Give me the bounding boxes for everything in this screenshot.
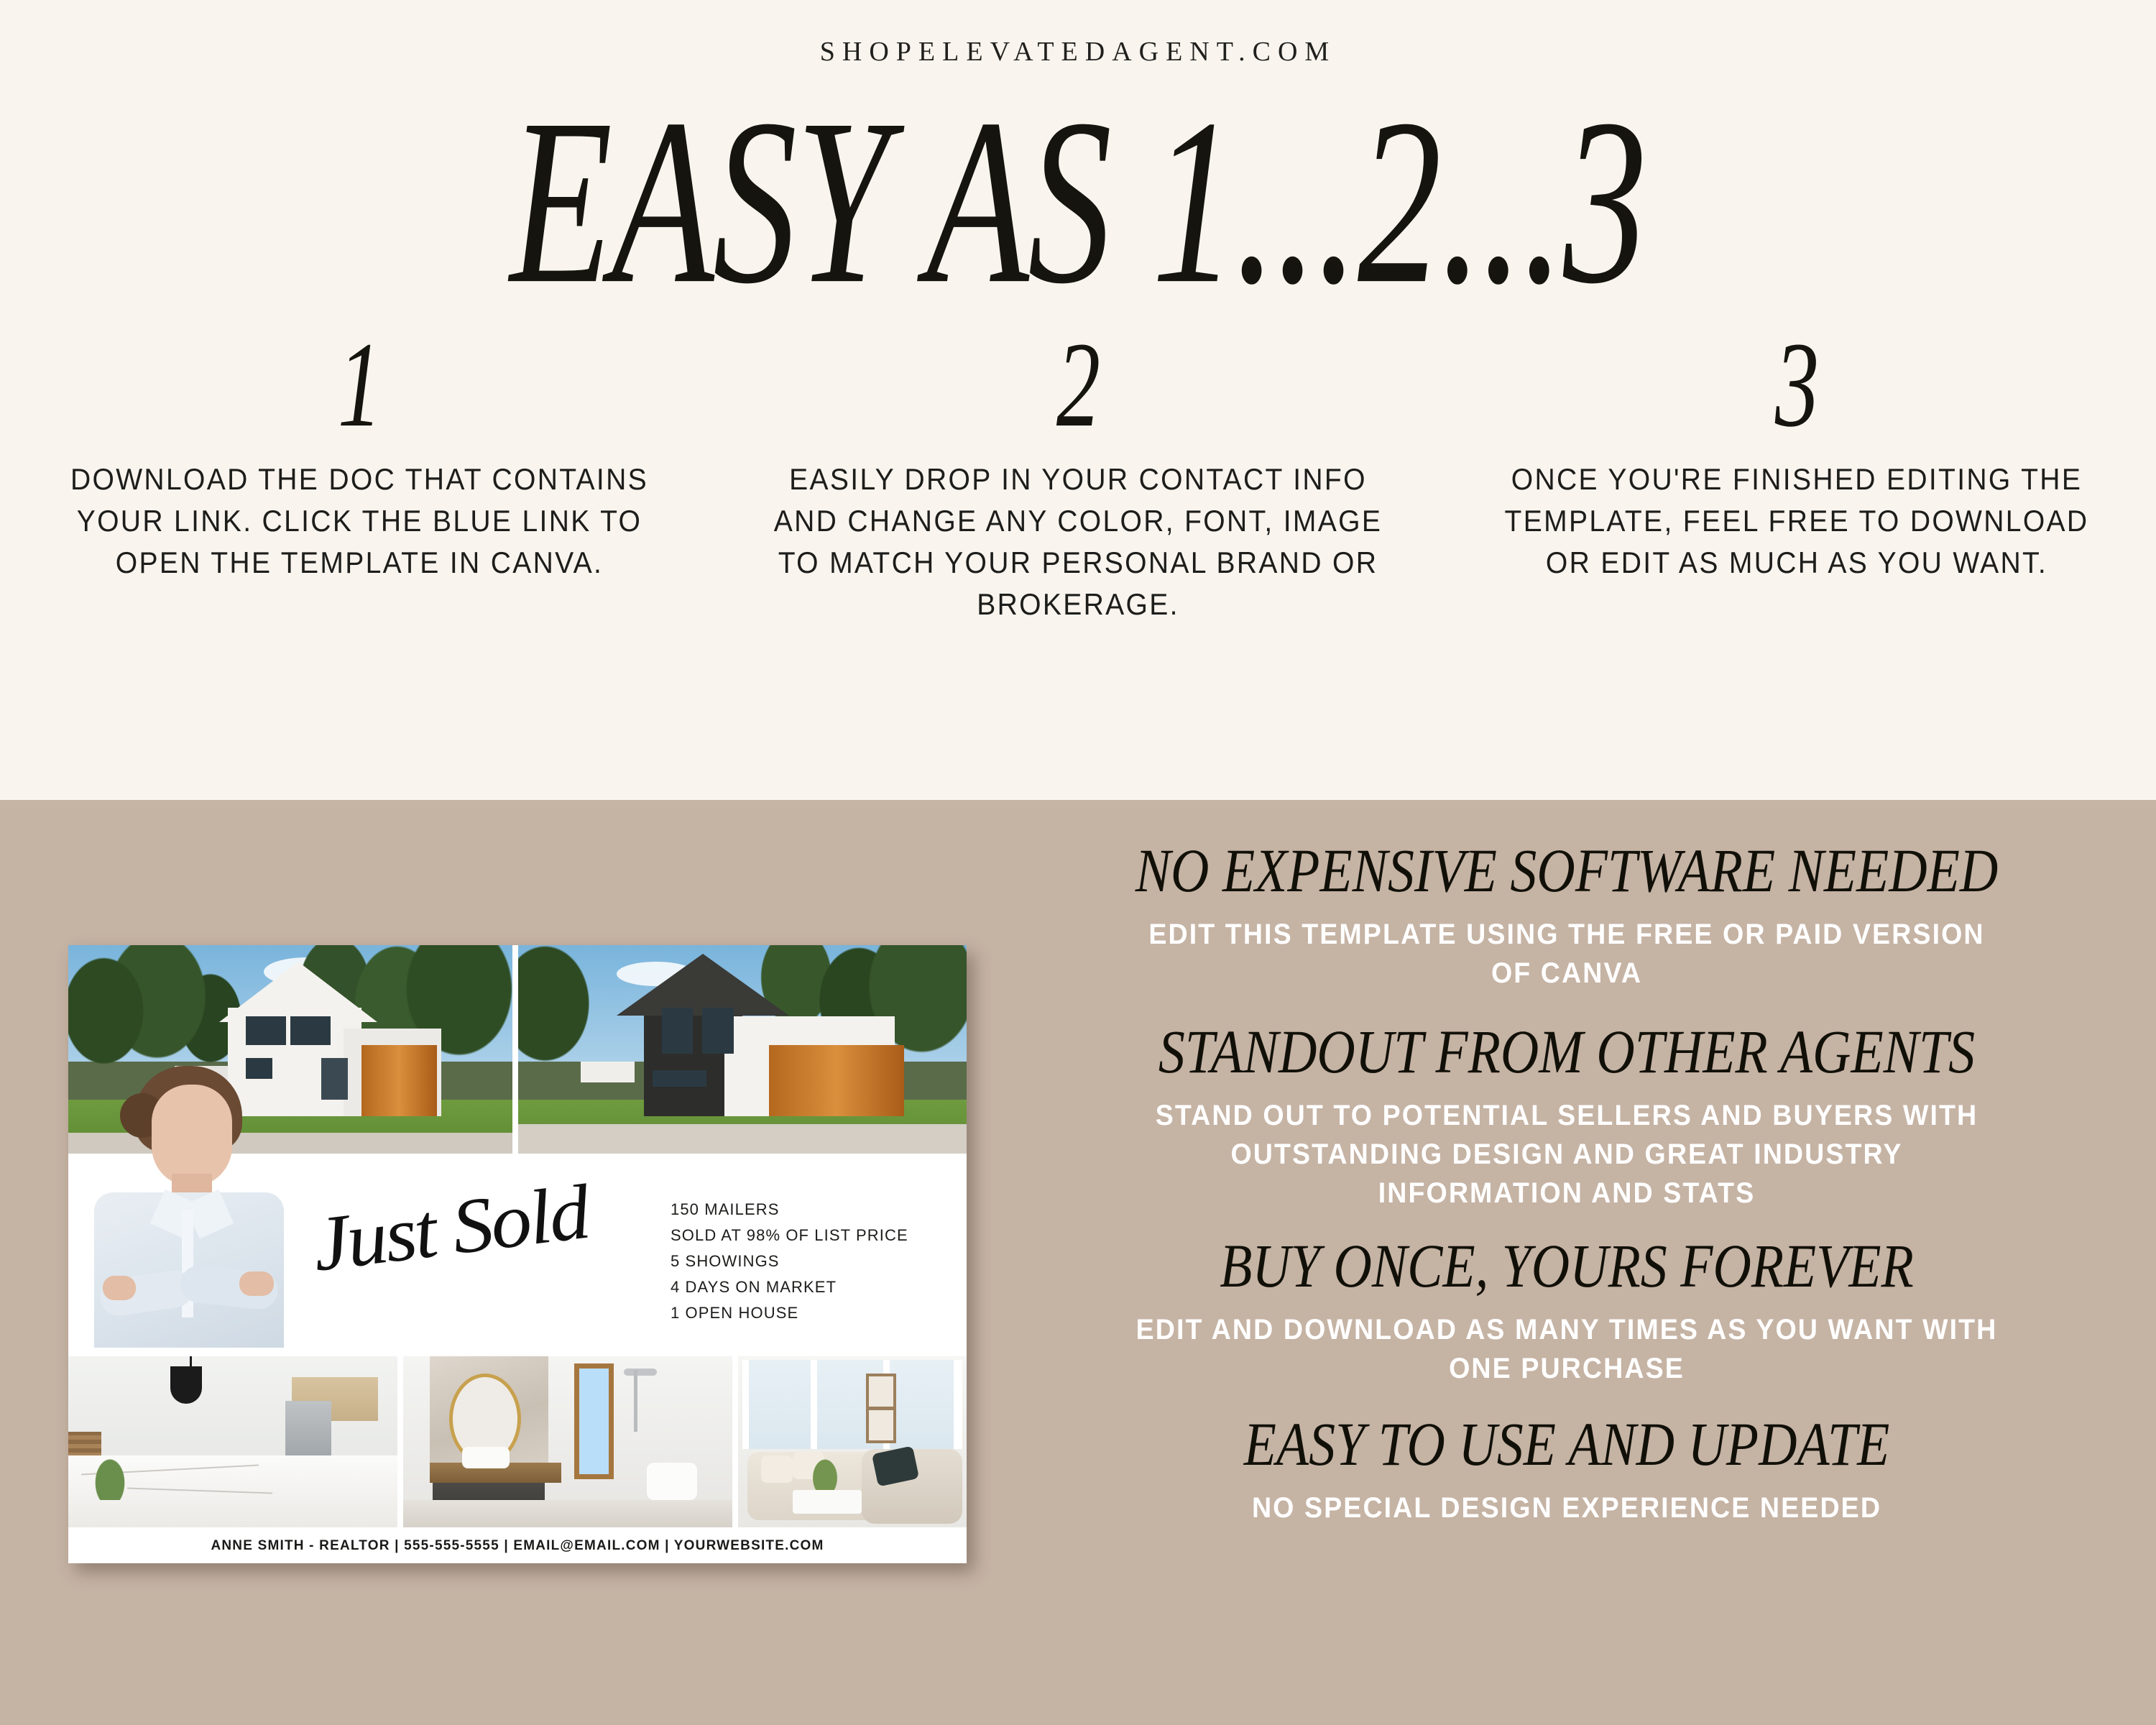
- step-1: 1 DOWNLOAD THE DOC THAT CONTAINS YOUR LI…: [0, 331, 719, 625]
- step-3: 3 ONCE YOU'RE FINISHED EDITING THE TEMPL…: [1437, 331, 2156, 625]
- stat-item: 1 OPEN HOUSE: [671, 1300, 908, 1326]
- feature-subtext-3: EDIT AND DOWNLOAD AS MANY TIMES AS YOU W…: [1046, 1310, 2087, 1388]
- living-room-interior-photo: [738, 1356, 967, 1527]
- kitchen-interior-photo: [68, 1356, 397, 1527]
- feature-subtext-4: NO SPECIAL DESIGN EXPERIENCE NEEDED: [1046, 1489, 2087, 1527]
- realtor-portrait-photo: [90, 1066, 288, 1348]
- feature-4: EASY TO USE AND UPDATE NO SPECIAL DESIGN…: [1013, 1409, 2120, 1527]
- postcard-mockup: Just Sold 150 MAILERS SOLD AT 98% OF LIS…: [68, 945, 967, 1563]
- step-text-2: EASILY DROP IN YOUR CONTACT INFO AND CHA…: [770, 459, 1386, 625]
- postcard-headline-row: Just Sold 150 MAILERS SOLD AT 98% OF LIS…: [68, 1159, 967, 1352]
- bottom-section: Just Sold 150 MAILERS SOLD AT 98% OF LIS…: [0, 800, 2156, 1725]
- steps-row: 1 DOWNLOAD THE DOC THAT CONTAINS YOUR LI…: [0, 331, 2156, 625]
- step-number-2: 2: [1056, 331, 1100, 438]
- site-url: SHOPELEVATEDAGENT.COM: [0, 36, 2156, 68]
- feature-subtext-2: STAND OUT TO POTENTIAL SELLERS AND BUYER…: [1046, 1096, 2087, 1213]
- step-text-3: ONCE YOU'RE FINISHED EDITING THE TEMPLAT…: [1503, 459, 2091, 584]
- stat-item: 150 MAILERS: [671, 1197, 908, 1223]
- step-2: 2 EASILY DROP IN YOUR CONTACT INFO AND C…: [719, 331, 1437, 625]
- postcard-contact-footer: ANNE SMITH - REALTOR | 555-555-5555 | EM…: [68, 1529, 967, 1563]
- page-title: EASY AS 1...2...3: [237, 83, 1919, 320]
- feature-heading-1: NO EXPENSIVE SOFTWARE NEEDED: [1091, 836, 2042, 905]
- stat-item: 5 SHOWINGS: [671, 1248, 908, 1274]
- feature-3: BUY ONCE, YOURS FOREVER EDIT AND DOWNLOA…: [1013, 1231, 2120, 1388]
- just-sold-headline: Just Sold: [308, 1167, 648, 1284]
- stat-item: 4 DAYS ON MARKET: [671, 1274, 908, 1300]
- feature-subtext-1: EDIT THIS TEMPLATE USING THE FREE OR PAI…: [1046, 915, 2087, 993]
- step-number-3: 3: [1774, 331, 1818, 438]
- step-number-1: 1: [337, 331, 381, 438]
- feature-1: NO EXPENSIVE SOFTWARE NEEDED EDIT THIS T…: [1013, 836, 2120, 993]
- postcard-stats-list: 150 MAILERS SOLD AT 98% OF LIST PRICE 5 …: [671, 1197, 908, 1326]
- postcard-interior-photos: [68, 1356, 967, 1527]
- promo-page: SHOPELEVATEDAGENT.COM EASY AS 1...2...3 …: [0, 0, 2156, 1725]
- feature-heading-3: BUY ONCE, YOURS FOREVER: [1091, 1231, 2042, 1300]
- house-exterior-side-photo: [518, 945, 967, 1154]
- stat-item: SOLD AT 98% OF LIST PRICE: [671, 1223, 908, 1248]
- top-section: SHOPELEVATEDAGENT.COM EASY AS 1...2...3 …: [0, 0, 2156, 800]
- feature-heading-2: STANDOUT FROM OTHER AGENTS: [1091, 1017, 2042, 1086]
- step-text-1: DOWNLOAD THE DOC THAT CONTAINS YOUR LINK…: [59, 459, 660, 584]
- feature-list: NO EXPENSIVE SOFTWARE NEEDED EDIT THIS T…: [1013, 836, 2120, 1527]
- feature-2: STANDOUT FROM OTHER AGENTS STAND OUT TO …: [1013, 1017, 2120, 1213]
- feature-heading-4: EASY TO USE AND UPDATE: [1091, 1409, 2042, 1478]
- bathroom-interior-photo: [403, 1356, 732, 1527]
